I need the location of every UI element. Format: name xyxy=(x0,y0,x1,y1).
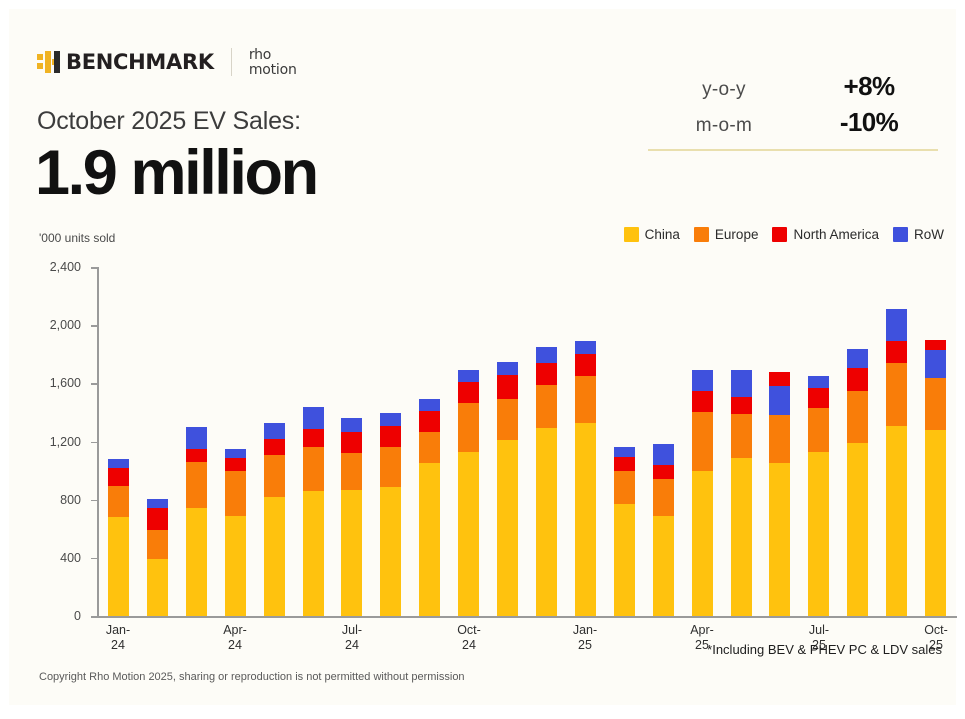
y-tick-label: 1,600 xyxy=(50,376,81,390)
bar-segment-row xyxy=(147,499,168,508)
legend-swatch-icon xyxy=(694,227,709,242)
bar-segment-europe xyxy=(458,403,479,452)
bar-segment-china xyxy=(264,497,285,616)
bar-segment-north-america xyxy=(925,340,946,350)
legend-swatch-icon xyxy=(772,227,787,242)
slide-root: BENCHMARK rho motion October 2025 EV Sal… xyxy=(0,0,965,719)
bar-segment-row xyxy=(614,447,635,457)
bar-segment-row xyxy=(108,459,129,468)
bar-segment-china xyxy=(614,504,635,616)
bar-segment-europe xyxy=(925,378,946,430)
x-tick-label: Oct-24 xyxy=(457,623,481,653)
y-tick-label: 2,400 xyxy=(50,260,81,274)
partner-line-1: rho xyxy=(249,47,271,63)
bar-column[interactable] xyxy=(886,309,907,616)
bar-segment-china xyxy=(692,471,713,616)
bar-series-group xyxy=(99,267,955,616)
brand-divider xyxy=(231,48,232,76)
bar-segment-north-america xyxy=(108,468,129,486)
stat-label-mom: m-o-m xyxy=(648,115,800,137)
bar-segment-north-america xyxy=(536,363,557,385)
legend-item-china[interactable]: China xyxy=(624,227,680,242)
y-tick-label: 800 xyxy=(60,493,81,507)
stat-value-mom: -10% xyxy=(800,107,938,138)
bar-segment-china xyxy=(653,516,674,616)
bar-segment-china xyxy=(925,430,946,616)
bar-segment-china xyxy=(847,443,868,616)
x-tick-label: Jan-24 xyxy=(106,623,130,653)
bar-segment-europe xyxy=(731,414,752,458)
stats-panel: y-o-y +8% m-o-m -10% xyxy=(648,71,938,151)
bar-segment-europe xyxy=(186,462,207,509)
bar-column[interactable] xyxy=(925,340,946,616)
bar-segment-europe xyxy=(419,432,440,463)
y-tick-label: 0 xyxy=(74,609,81,623)
x-tick-label: Apr-24 xyxy=(223,623,247,653)
bar-column[interactable] xyxy=(769,372,790,616)
bar-segment-row xyxy=(303,407,324,430)
bar-segment-china xyxy=(186,508,207,616)
bar-column[interactable] xyxy=(497,362,518,616)
bar-segment-china xyxy=(225,516,246,616)
bar-column[interactable] xyxy=(458,370,479,616)
bar-segment-north-america xyxy=(264,439,285,454)
bar-segment-north-america xyxy=(692,391,713,412)
bar-segment-china xyxy=(731,458,752,617)
bar-segment-row xyxy=(225,449,246,458)
bar-segment-china xyxy=(575,423,596,616)
bar-segment-europe xyxy=(614,471,635,504)
bar-segment-europe xyxy=(108,486,129,517)
stat-row-yoy: y-o-y +8% xyxy=(648,71,938,107)
bar-segment-north-america xyxy=(808,388,829,408)
bar-segment-china xyxy=(769,463,790,616)
bar-segment-north-america xyxy=(186,449,207,462)
bar-segment-china xyxy=(536,428,557,616)
bar-segment-north-america xyxy=(341,432,362,453)
bar-segment-row xyxy=(692,370,713,391)
bar-segment-row xyxy=(497,362,518,375)
bar-segment-row xyxy=(536,347,557,363)
bar-segment-row xyxy=(264,423,285,439)
legend-swatch-icon xyxy=(624,227,639,242)
bar-segment-china xyxy=(497,440,518,616)
bar-segment-north-america xyxy=(225,458,246,470)
bar-segment-europe xyxy=(303,447,324,491)
brand-name: BENCHMARK xyxy=(66,50,214,74)
bar-segment-row xyxy=(769,386,790,415)
legend-label: Europe xyxy=(715,227,759,242)
bar-column[interactable] xyxy=(847,349,868,616)
bar-segment-europe xyxy=(380,447,401,486)
bar-segment-north-america xyxy=(614,457,635,471)
bar-segment-europe xyxy=(886,363,907,426)
bar-segment-north-america xyxy=(731,397,752,414)
bar-segment-row xyxy=(575,341,596,354)
legend-label: RoW xyxy=(914,227,944,242)
bar-segment-north-america xyxy=(458,382,479,403)
bar-segment-row xyxy=(380,413,401,426)
bar-segment-north-america xyxy=(303,429,324,447)
bar-column[interactable] xyxy=(303,407,324,616)
bar-segment-europe xyxy=(225,471,246,516)
bar-segment-europe xyxy=(147,530,168,560)
chart-footnote: *Including BEV & PHEV PC & LDV sales xyxy=(707,642,942,657)
bar-segment-row xyxy=(458,370,479,382)
legend-item-north-america[interactable]: North America xyxy=(772,227,879,242)
bar-segment-north-america xyxy=(380,426,401,447)
bar-segment-china xyxy=(380,487,401,616)
page-subtitle: October 2025 EV Sales: xyxy=(37,107,301,136)
stats-underline xyxy=(648,149,938,151)
bar-segment-north-america xyxy=(147,508,168,529)
partner-line-2: motion xyxy=(249,63,297,77)
y-axis-labels: 04008001,2001,6002,0002,400 xyxy=(9,259,81,616)
bar-segment-europe xyxy=(808,408,829,452)
bar-column[interactable] xyxy=(653,444,674,616)
chart-legend: ChinaEuropeNorth AmericaRoW xyxy=(616,227,944,242)
bar-segment-china xyxy=(341,490,362,617)
legend-swatch-icon xyxy=(893,227,908,242)
bar-column[interactable] xyxy=(419,399,440,616)
bar-column[interactable] xyxy=(186,427,207,616)
bar-segment-china xyxy=(458,452,479,616)
y-tick-label: 400 xyxy=(60,551,81,565)
y-axis-title: '000 units sold xyxy=(39,231,115,245)
bar-segment-row xyxy=(186,427,207,449)
bar-column[interactable] xyxy=(264,423,285,616)
bar-segment-china xyxy=(886,426,907,616)
bar-column[interactable] xyxy=(380,413,401,616)
bar-segment-north-america xyxy=(653,465,674,480)
brand-bar: BENCHMARK rho motion xyxy=(37,47,297,77)
bar-segment-north-america xyxy=(886,341,907,363)
bar-segment-row xyxy=(419,399,440,411)
slide-canvas: BENCHMARK rho motion October 2025 EV Sal… xyxy=(9,9,956,705)
chart-plot-area: 04008001,2001,6002,0002,400 Jan-24Apr-24… xyxy=(9,259,956,659)
bar-segment-europe xyxy=(692,412,713,470)
bar-column[interactable] xyxy=(536,347,557,616)
bar-segment-north-america xyxy=(497,375,518,398)
legend-label: China xyxy=(645,227,680,242)
bar-segment-china xyxy=(303,491,324,616)
bar-segment-row xyxy=(886,309,907,341)
bar-segment-row xyxy=(731,370,752,398)
bar-column[interactable] xyxy=(808,376,829,616)
bar-column[interactable] xyxy=(731,370,752,616)
bar-segment-europe xyxy=(575,376,596,423)
bar-column[interactable] xyxy=(108,459,129,616)
bar-segment-row xyxy=(847,349,868,368)
y-tick-label: 1,200 xyxy=(50,435,81,449)
stat-value-yoy: +8% xyxy=(800,71,938,102)
bar-segment-north-america xyxy=(575,354,596,376)
bar-segment-row xyxy=(653,444,674,464)
page-title: 1.9 million xyxy=(35,137,317,209)
x-axis-line xyxy=(97,616,957,618)
bar-segment-china xyxy=(108,517,129,616)
legend-item-europe[interactable]: Europe xyxy=(694,227,759,242)
bar-segment-row xyxy=(341,418,362,432)
bar-segment-china xyxy=(147,559,168,616)
bar-column[interactable] xyxy=(341,418,362,616)
x-tick-label: Jul-24 xyxy=(342,623,362,653)
y-tick-label: 2,000 xyxy=(50,318,81,332)
bar-segment-north-america xyxy=(847,368,868,391)
bar-column[interactable] xyxy=(225,449,246,616)
bar-segment-europe xyxy=(264,455,285,497)
stat-row-mom: m-o-m -10% xyxy=(648,107,938,143)
bar-segment-europe xyxy=(653,479,674,515)
bar-segment-row xyxy=(808,376,829,388)
bar-column[interactable] xyxy=(147,499,168,616)
x-tick-label: Jan-25 xyxy=(573,623,597,653)
benchmark-logo-icon xyxy=(37,51,63,73)
legend-label: North America xyxy=(793,227,879,242)
bar-segment-europe xyxy=(341,453,362,489)
bar-column[interactable] xyxy=(575,341,596,616)
bar-segment-row xyxy=(925,350,946,378)
bar-segment-europe xyxy=(847,391,868,443)
bar-segment-north-america xyxy=(769,372,790,386)
bar-segment-china xyxy=(808,452,829,616)
legend-item-row[interactable]: RoW xyxy=(893,227,944,242)
stat-label-yoy: y-o-y xyxy=(648,79,800,101)
copyright-text: Copyright Rho Motion 2025, sharing or re… xyxy=(39,671,465,683)
bar-segment-north-america xyxy=(419,411,440,432)
bar-segment-europe xyxy=(536,385,557,429)
bar-segment-europe xyxy=(497,399,518,440)
bar-column[interactable] xyxy=(614,447,635,616)
partner-logo: rho motion xyxy=(249,48,297,77)
bar-column[interactable] xyxy=(692,370,713,616)
bar-segment-china xyxy=(419,463,440,616)
bar-segment-europe xyxy=(769,415,790,463)
